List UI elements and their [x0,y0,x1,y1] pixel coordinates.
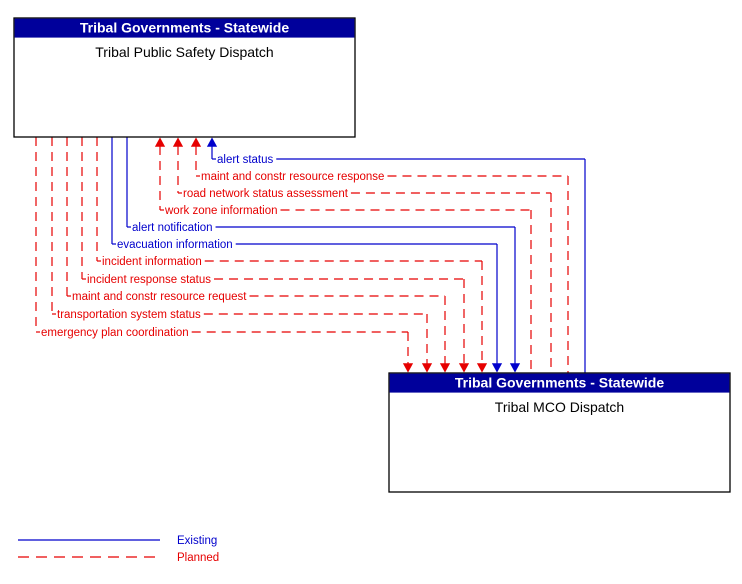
box-bottom[interactable]: Tribal Governments - Statewide Tribal MC… [389,373,730,492]
arrowhead-up [173,138,182,147]
arrowhead-up [207,138,216,147]
flow-label: emergency plan coordination [41,327,189,339]
box-bottom-name: Tribal MCO Dispatch [495,399,624,415]
flow-label: work zone information [164,205,278,217]
box-bottom-stakeholder: Tribal Governments - Statewide [455,375,664,391]
arrowhead-up [191,138,200,147]
box-top[interactable]: Tribal Governments - Statewide Tribal Pu… [14,18,355,137]
flow-label: incident response status [87,274,211,286]
arrowhead-up [155,138,164,147]
arrowhead-down [510,364,519,373]
flow-label-layer: alert statusmaint and constr resource re… [41,154,384,339]
box-top-name: Tribal Public Safety Dispatch [95,44,273,60]
arrowhead-down [440,364,449,373]
legend-existing-label: Existing [177,535,217,547]
arrowhead-down [459,364,468,373]
flow-label: alert status [217,154,273,166]
arrowhead-down [403,364,412,373]
flow-label: alert notification [132,222,213,234]
box-top-stakeholder: Tribal Governments - Statewide [80,20,289,36]
architecture-flow-diagram: alert statusmaint and constr resource re… [0,0,742,584]
arrowhead-down [422,364,431,373]
arrowhead-down [492,364,501,373]
flow-label: transportation system status [57,309,201,321]
legend-planned-label: Planned [177,552,219,564]
flow-label: maint and constr resource response [201,171,384,183]
flow-label: incident information [102,256,202,268]
arrowhead-down [477,364,486,373]
flow-label: maint and constr resource request [72,291,247,303]
legend: Existing Planned [18,535,219,564]
flow-label: evacuation information [117,239,233,251]
flow-label: road network status assessment [183,188,349,200]
